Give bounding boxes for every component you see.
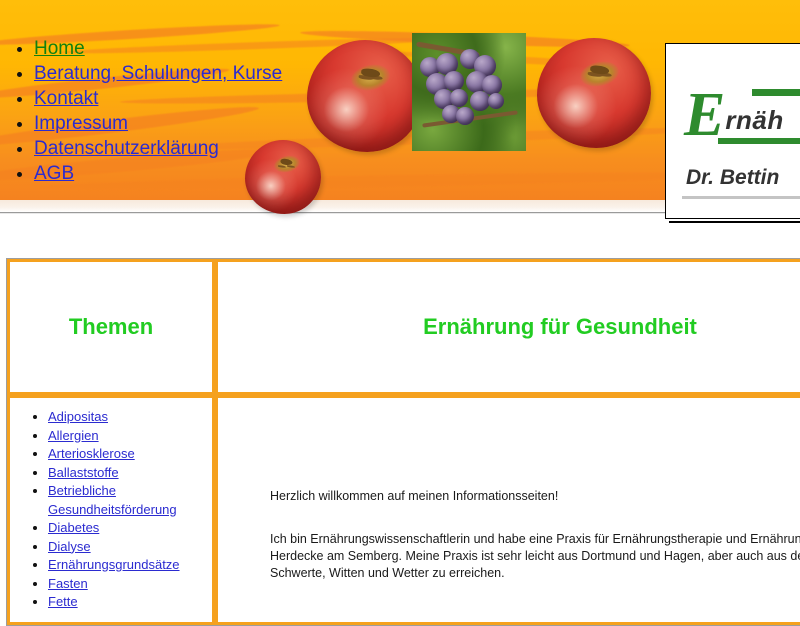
nav-item[interactable]: Impressum: [34, 111, 282, 136]
cell-topic-list: Adipositas Allergien Arteriosklerose Bal…: [7, 395, 215, 625]
logo-wordmark-rest: rnäh: [725, 105, 783, 135]
page-layout-table: Themen Ernährung für Gesundheit Adiposit…: [6, 258, 800, 626]
topic-link-diabetes[interactable]: Diabetes: [48, 520, 99, 535]
list-item[interactable]: Allergien: [48, 427, 212, 446]
main-content-body: Herzlich willkommen auf meinen Informati…: [218, 398, 800, 602]
topic-link-allergien[interactable]: Allergien: [48, 428, 99, 443]
welcome-paragraph: Herzlich willkommen auf meinen Informati…: [270, 488, 800, 505]
grape-berry: [456, 107, 474, 125]
nav-link-agb[interactable]: AGB: [34, 163, 74, 184]
grape-berry: [444, 71, 464, 91]
topic-link-dialyse[interactable]: Dialyse: [48, 539, 91, 554]
logo-person-name: Dr. Bettin: [686, 166, 779, 190]
list-item[interactable]: Fette: [48, 593, 212, 612]
list-item[interactable]: Betriebliche Gesundheitsförderung: [48, 482, 212, 519]
primary-navigation[interactable]: Home Beratung, Schulungen, Kurse Kontakt…: [0, 36, 282, 186]
list-item[interactable]: Adipositas: [48, 408, 212, 427]
nav-link-datenschutz[interactable]: Datenschutzerklärung: [34, 138, 219, 159]
cell-main-content: Herzlich willkommen auf meinen Informati…: [215, 395, 800, 625]
grapes-photo: [412, 33, 526, 151]
list-item[interactable]: Arteriosklerose: [48, 445, 212, 464]
apple-image-left: [307, 40, 423, 152]
topic-link-adipositas[interactable]: Adipositas: [48, 409, 108, 424]
topic-link-arteriosklerose[interactable]: Arteriosklerose: [48, 446, 135, 461]
nav-item[interactable]: Kontakt: [34, 86, 282, 111]
apple-stem-icon: [578, 58, 621, 90]
grape-berry: [488, 93, 504, 109]
practice-logo-card: Ernäh Dr. Bettin: [665, 43, 800, 219]
logo-rule: [682, 196, 800, 199]
logo-wordmark: Ernäh: [684, 84, 784, 146]
topic-link-fasten[interactable]: Fasten: [48, 576, 88, 591]
cell-page-title: Ernährung für Gesundheit: [215, 259, 800, 395]
nav-item[interactable]: Beratung, Schulungen, Kurse: [34, 61, 282, 86]
nav-link-home[interactable]: Home: [34, 38, 85, 59]
sidebar-heading: Themen: [69, 314, 153, 339]
page-title: Ernährung für Gesundheit: [423, 314, 697, 339]
list-item[interactable]: Dialyse: [48, 538, 212, 557]
list-item[interactable]: Ernährungsgrundsätze: [48, 556, 212, 575]
logo-green-bar-bottom: [718, 138, 800, 144]
nav-item[interactable]: Datenschutzerklärung: [34, 136, 282, 161]
topic-link-betriebliche-gesundheitsfoerderung[interactable]: Betriebliche Gesundheitsförderung: [48, 483, 177, 517]
list-item[interactable]: Fasten: [48, 575, 212, 594]
apple-stem-icon: [349, 61, 393, 93]
list-item[interactable]: Ballaststoffe: [48, 464, 212, 483]
table-row-headings: Themen Ernährung für Gesundheit: [7, 259, 800, 395]
topic-link-ballaststoffe[interactable]: Ballaststoffe: [48, 465, 119, 480]
topic-navigation-list[interactable]: Adipositas Allergien Arteriosklerose Bal…: [10, 408, 212, 612]
intro-paragraph: Ich bin Ernährungswissenschaftlerin und …: [270, 531, 800, 582]
nav-link-beratung[interactable]: Beratung, Schulungen, Kurse: [34, 63, 282, 84]
topic-link-ernaehrungsgrundsaetze[interactable]: Ernährungsgrundsätze: [48, 557, 180, 572]
grape-berry: [470, 91, 490, 111]
apple-image-right: [537, 38, 651, 148]
nav-link-impressum[interactable]: Impressum: [34, 113, 128, 134]
table-row-content: Adipositas Allergien Arteriosklerose Bal…: [7, 395, 800, 625]
topic-link-fette[interactable]: Fette: [48, 594, 78, 609]
cell-sidebar-heading: Themen: [7, 259, 215, 395]
nav-item[interactable]: AGB: [34, 161, 282, 186]
nav-link-kontakt[interactable]: Kontakt: [34, 88, 98, 109]
nav-item[interactable]: Home: [34, 36, 282, 61]
list-item[interactable]: Diabetes: [48, 519, 212, 538]
